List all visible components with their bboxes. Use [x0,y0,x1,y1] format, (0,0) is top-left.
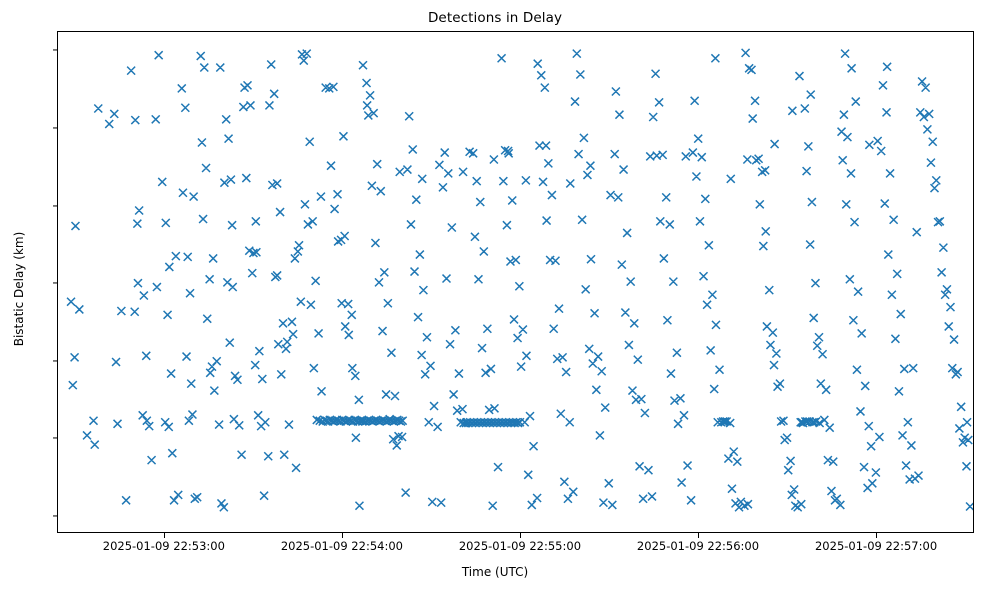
scatter-points-layer [58,32,973,532]
scatter-marker-set [67,49,973,511]
x-tick-label: 2025-01-09 22:53:00 [103,539,225,553]
x-tick-label: 2025-01-09 22:56:00 [637,539,759,553]
x-tick-mark [164,533,165,538]
x-tick-mark [520,533,521,538]
y-axis-label: Bistatic Delay (km) [12,38,26,540]
x-tick-mark [342,533,343,538]
plot-axes [57,31,974,533]
x-tick-label: 2025-01-09 22:57:00 [815,539,937,553]
x-tick-mark [876,533,877,538]
matplotlib-figure: Detections in Delay Bistatic Delay (km) … [0,0,990,590]
x-tick-mark [698,533,699,538]
x-tick-label: 2025-01-09 22:54:00 [281,539,403,553]
x-axis-label: Time (UTC) [0,565,990,579]
x-tick-label: 2025-01-09 22:55:00 [459,539,581,553]
chart-title: Detections in Delay [0,10,990,26]
